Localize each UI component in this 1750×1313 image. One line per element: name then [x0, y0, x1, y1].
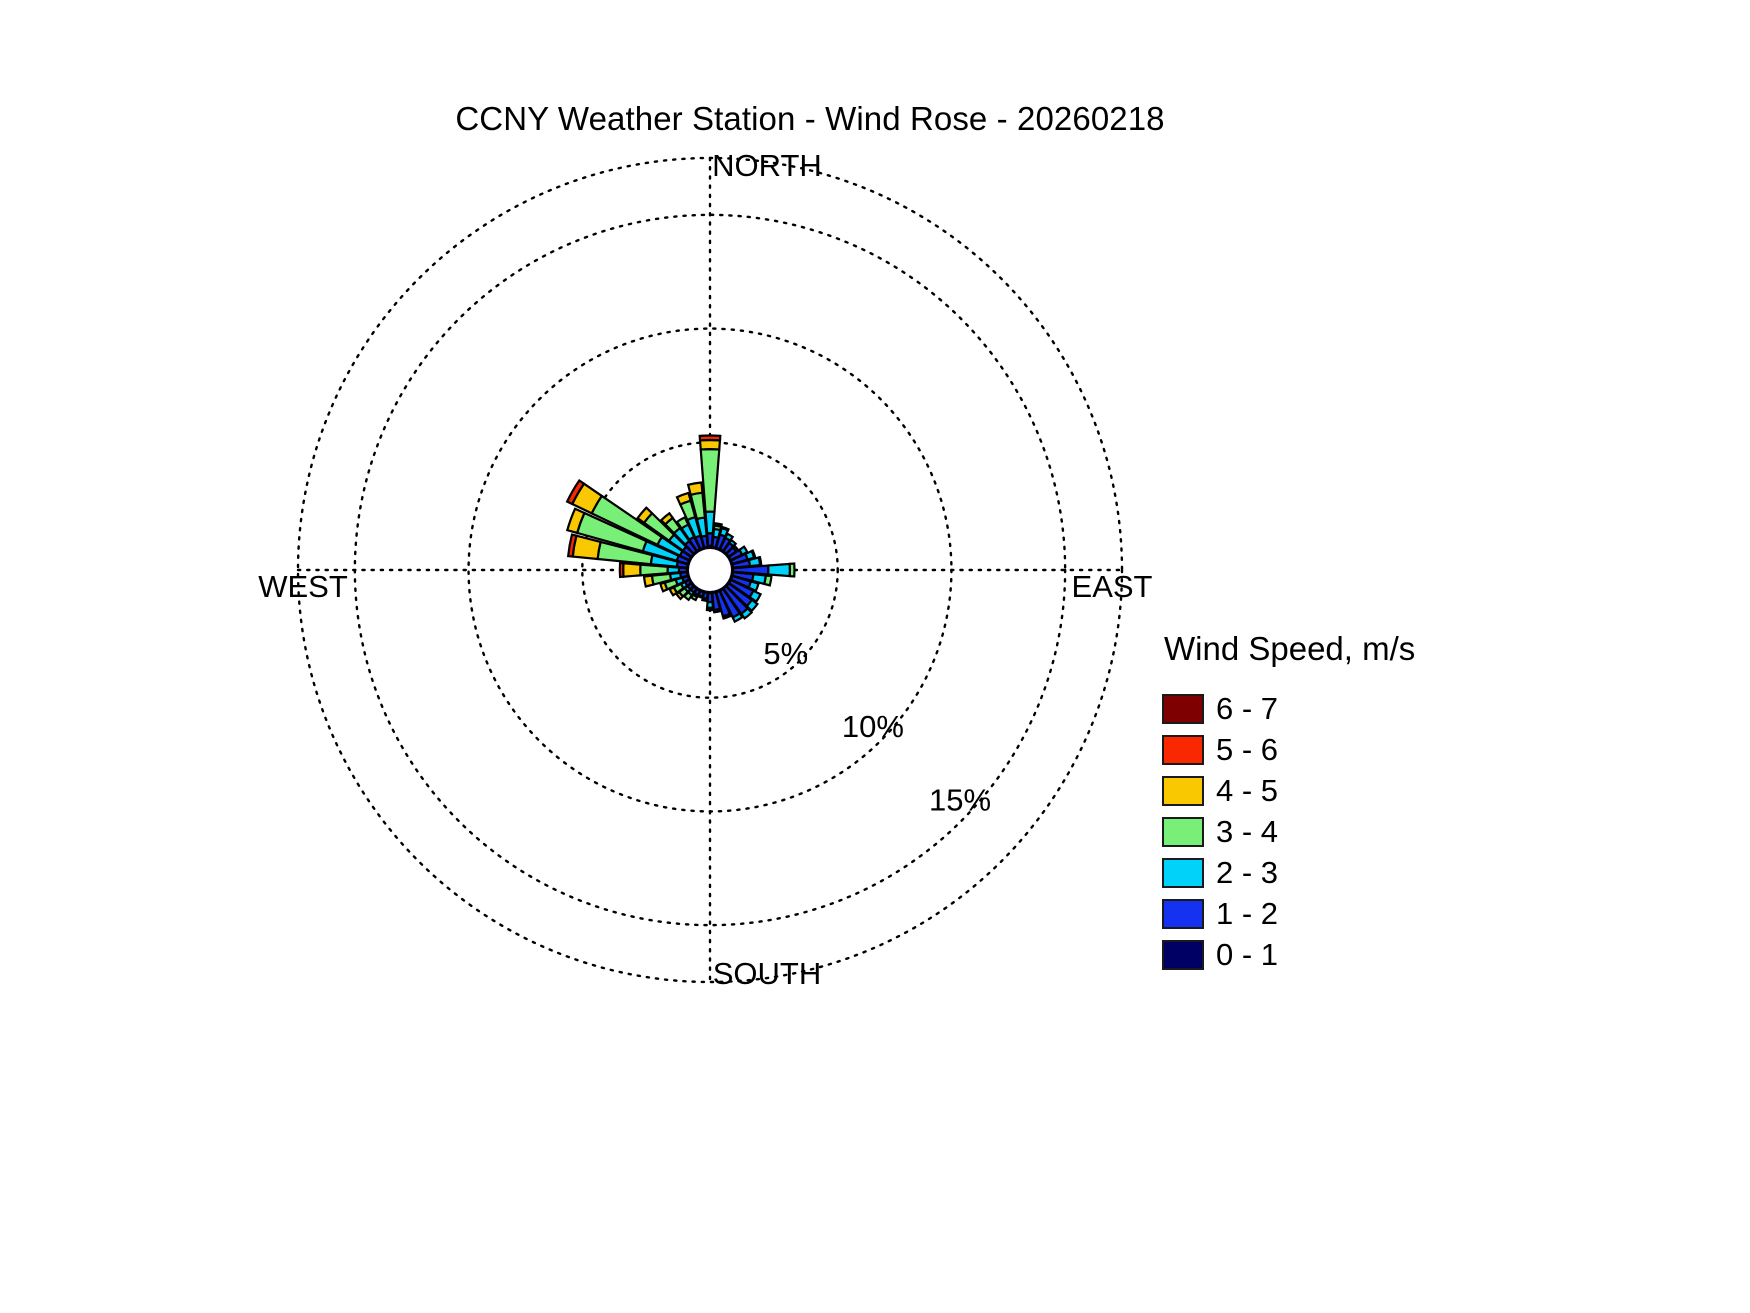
- legend-item[interactable]: 2 - 3: [1162, 852, 1562, 893]
- legend-item[interactable]: 3 - 4: [1162, 811, 1562, 852]
- compass-label-east: EAST: [1072, 569, 1153, 604]
- plot-center-hub: [689, 549, 731, 591]
- rose-segment: [764, 575, 771, 585]
- rose-segment: [660, 583, 667, 592]
- wind-rose-figure: CCNY Weather Station - Wind Rose - 20260…: [0, 0, 1750, 1313]
- rose-segment: [790, 564, 795, 577]
- legend-color-swatch: [1162, 776, 1204, 806]
- legend-item[interactable]: 6 - 7: [1162, 688, 1562, 729]
- legend-item-label: 4 - 5: [1216, 773, 1278, 809]
- rose-segment: [623, 563, 640, 576]
- rose-segment: [700, 435, 721, 440]
- legend-color-swatch: [1162, 940, 1204, 970]
- legend-title: Wind Speed, m/s: [1164, 630, 1562, 668]
- radial-tick-label-10pct: 10%: [842, 709, 904, 744]
- radial-tick-label-15pct: 15%: [929, 782, 991, 817]
- legend-rows: 6 - 75 - 64 - 53 - 42 - 31 - 20 - 1: [1162, 688, 1562, 975]
- compass-label-south: SOUTH: [713, 956, 822, 991]
- wind-rose-petals: [567, 435, 794, 621]
- legend-item[interactable]: 0 - 1: [1162, 934, 1562, 975]
- legend-item-label: 5 - 6: [1216, 732, 1278, 768]
- rose-segment: [700, 440, 720, 449]
- rose-segment: [644, 576, 653, 587]
- compass-label-north: NORTH: [712, 148, 822, 183]
- legend: Wind Speed, m/s 6 - 75 - 64 - 53 - 42 - …: [1162, 630, 1562, 975]
- rose-segment: [714, 609, 721, 612]
- legend-item-label: 3 - 4: [1216, 814, 1278, 850]
- legend-color-swatch: [1162, 735, 1204, 765]
- legend-color-swatch: [1162, 694, 1204, 724]
- legend-item-label: 2 - 3: [1216, 855, 1278, 891]
- legend-item[interactable]: 1 - 2: [1162, 893, 1562, 934]
- rose-segment: [707, 608, 713, 610]
- legend-color-swatch: [1162, 899, 1204, 929]
- legend-item[interactable]: 5 - 6: [1162, 729, 1562, 770]
- rose-segment: [620, 563, 624, 577]
- rose-segment: [714, 523, 721, 526]
- compass-label-west: WEST: [258, 569, 348, 604]
- legend-item-label: 6 - 7: [1216, 691, 1278, 727]
- rose-segment: [768, 564, 790, 576]
- legend-item-label: 0 - 1: [1216, 937, 1278, 973]
- rose-center-hole: [689, 549, 731, 591]
- rose-segment: [688, 483, 702, 495]
- legend-item-label: 1 - 2: [1216, 896, 1278, 932]
- legend-color-swatch: [1162, 858, 1204, 888]
- legend-item[interactable]: 4 - 5: [1162, 770, 1562, 811]
- legend-color-swatch: [1162, 817, 1204, 847]
- rose-segment: [759, 557, 761, 565]
- radial-tick-label-5pct: 5%: [763, 636, 808, 671]
